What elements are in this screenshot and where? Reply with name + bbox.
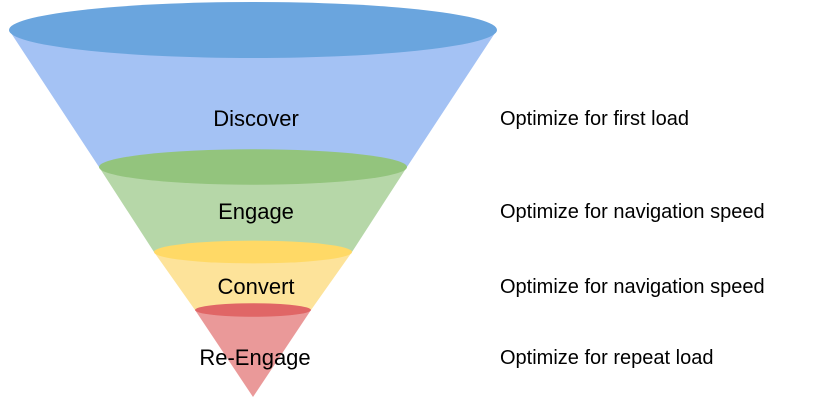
funnel-annotation-discover: Optimize for first load	[500, 107, 689, 131]
funnel-annotation-convert: Optimize for navigation speed	[500, 275, 765, 299]
funnel-diagram: Discover Engage Convert Re-Engage Optimi…	[0, 0, 837, 417]
funnel-cap-engage	[99, 149, 407, 184]
funnel-annotation-re-engage: Optimize for repeat load	[500, 346, 713, 370]
funnel-stage-label-engage: Engage	[218, 199, 294, 225]
funnel-stage-label-convert: Convert	[217, 274, 294, 300]
funnel-stage-label-re-engage: Re-Engage	[199, 345, 310, 371]
funnel-cap-discover	[9, 2, 497, 58]
funnel-segment-discover[interactable]	[9, 2, 497, 167]
funnel-annotation-engage: Optimize for navigation speed	[500, 200, 765, 224]
funnel-stage-label-discover: Discover	[213, 106, 299, 132]
funnel-cap-re-engage	[195, 303, 311, 316]
funnel-cap-convert	[154, 241, 352, 264]
